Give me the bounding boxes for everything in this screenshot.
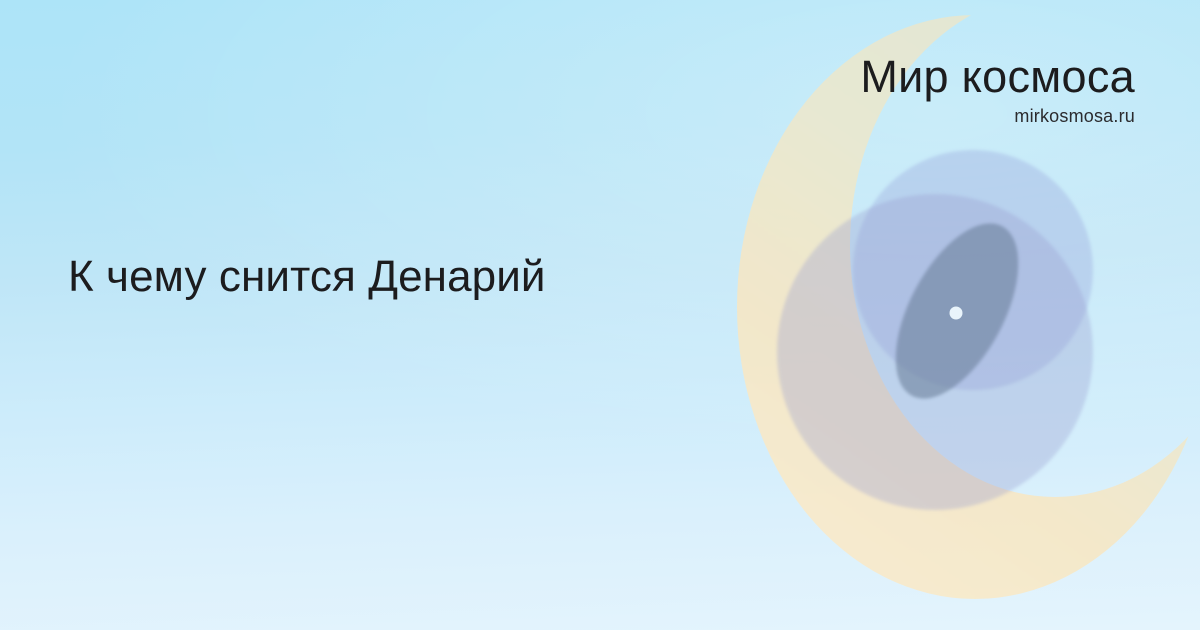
site-name: Мир космоса bbox=[860, 54, 1135, 99]
social-preview-card: К чему снится Денарий Мир космоса mirkos… bbox=[0, 0, 1200, 630]
page-title: К чему снится Денарий bbox=[68, 252, 708, 303]
site-branding: Мир космоса mirkosmosa.ru bbox=[860, 54, 1135, 127]
white-center-dot bbox=[950, 307, 963, 320]
site-url: mirkosmosa.ru bbox=[860, 106, 1135, 127]
